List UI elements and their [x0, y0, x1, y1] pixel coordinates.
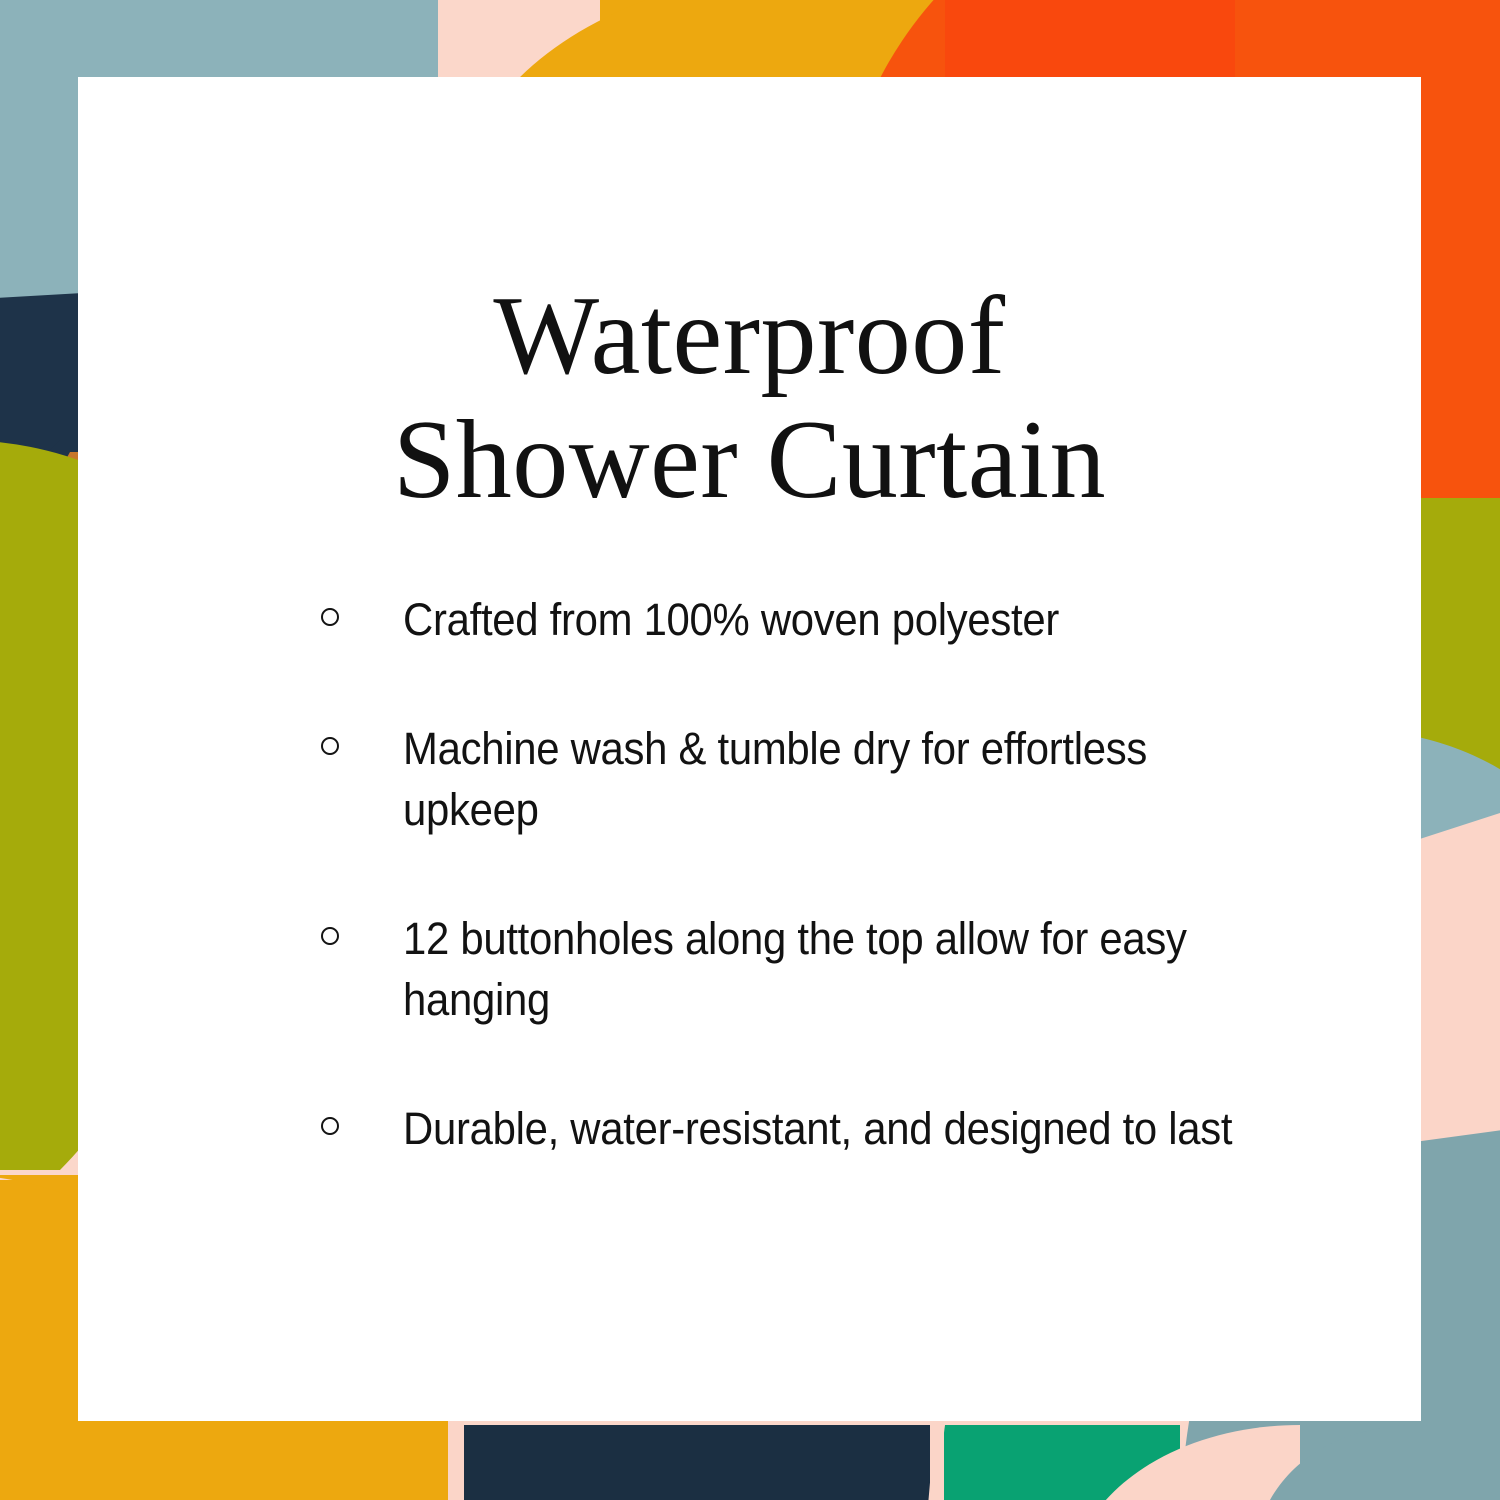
- feature-text: 12 buttonholes along the top allow for e…: [403, 908, 1255, 1030]
- bg-shape-pink-divider-left: [448, 1420, 464, 1500]
- feature-text: Machine wash & tumble dry for effortless…: [403, 718, 1255, 840]
- list-item: Crafted from 100% woven polyester: [309, 589, 1319, 650]
- circle-outline-bullet-icon: [321, 927, 339, 945]
- feature-list: Crafted from 100% woven polyester Machin…: [309, 589, 1319, 1159]
- product-infographic: Waterproof Shower Curtain Crafted from 1…: [0, 0, 1500, 1500]
- title-line-2: Shower Curtain: [78, 398, 1421, 522]
- bg-shape-pink-divider-right: [930, 1420, 944, 1500]
- list-item: Durable, water-resistant, and designed t…: [309, 1098, 1319, 1159]
- page-title: Waterproof Shower Curtain: [78, 274, 1421, 522]
- title-line-1: Waterproof: [78, 274, 1421, 398]
- list-item: 12 buttonholes along the top allow for e…: [309, 908, 1319, 1030]
- feature-text: Crafted from 100% woven polyester: [403, 589, 1255, 650]
- circle-outline-bullet-icon: [321, 1117, 339, 1135]
- circle-outline-bullet-icon: [321, 737, 339, 755]
- list-item: Machine wash & tumble dry for effortless…: [309, 718, 1319, 840]
- bg-shape-navy-bottom: [455, 1425, 935, 1500]
- bg-shape-yellow-bottom-band: [0, 1420, 460, 1500]
- circle-outline-bullet-icon: [321, 608, 339, 626]
- feature-text: Durable, water-resistant, and designed t…: [403, 1098, 1255, 1159]
- content-card: Waterproof Shower Curtain Crafted from 1…: [78, 77, 1421, 1421]
